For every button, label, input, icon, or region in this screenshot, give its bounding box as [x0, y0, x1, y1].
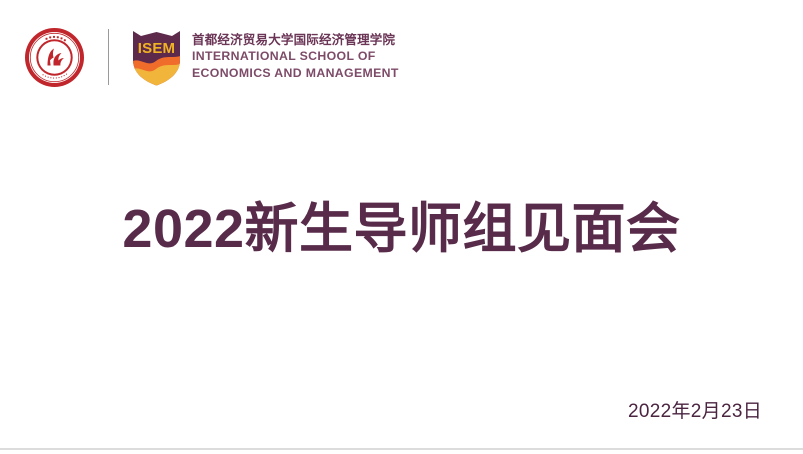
isem-shield-icon: ISEM — [130, 27, 183, 87]
vertical-divider-icon — [108, 29, 109, 85]
bottom-divider — [0, 448, 803, 450]
school-name-en-line1: INTERNATIONAL SCHOOL OF — [192, 50, 399, 63]
school-name-cn: 首都经济贸易大学国际经济管理学院 — [192, 34, 399, 48]
title-slide: ISEM 首都经济贸易大学国际经济管理学院 INTERNATIONAL SCHO… — [0, 0, 803, 454]
school-name-en-line2: ECONOMICS AND MANAGEMENT — [192, 67, 399, 80]
school-name-block: 首都经济贸易大学国际经济管理学院 INTERNATIONAL SCHOOL OF… — [192, 34, 399, 80]
date-label: 2022年2月23日 — [628, 396, 762, 423]
brand-header: ISEM 首都经济贸易大学国际经济管理学院 INTERNATIONAL SCHO… — [24, 27, 399, 87]
page-title: 2022新生导师组见面会 — [0, 198, 803, 260]
svg-text:ISEM: ISEM — [138, 40, 175, 57]
university-seal-icon — [24, 27, 85, 88]
